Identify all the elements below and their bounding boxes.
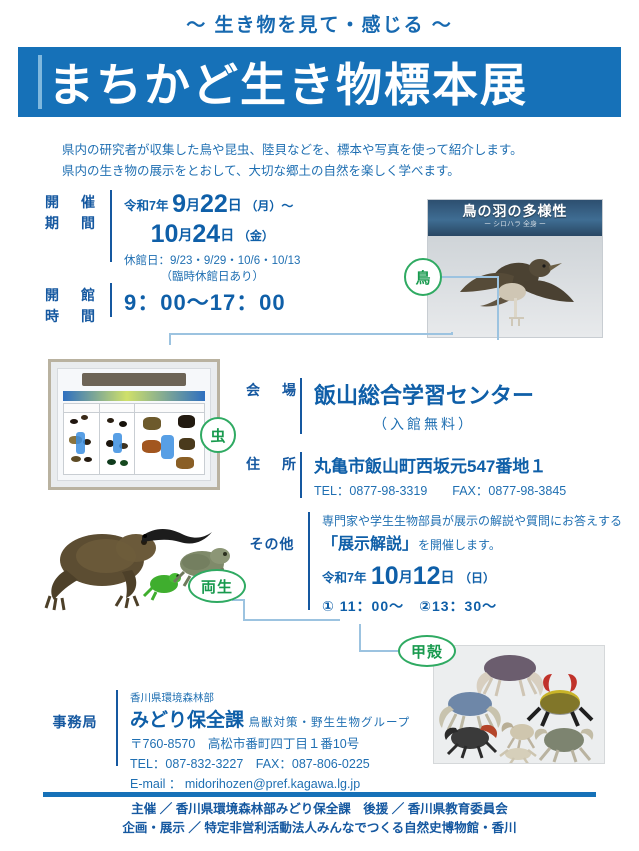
- period-start-day: 22: [200, 190, 228, 218]
- insect-column-1-header: [64, 404, 99, 413]
- other-era: 令和7年: [322, 571, 366, 585]
- other-highlight-line: 「展示解説」を開催します。: [322, 530, 622, 554]
- blue-marker: [76, 432, 85, 454]
- hours-label-line2: 時 間: [44, 306, 100, 327]
- insect-column-3: [135, 404, 204, 474]
- period-start: 令和7年 9月22日 （月）〜: [124, 190, 300, 219]
- other-highlight-tail: を開催します。: [418, 538, 501, 552]
- lead-description: 県内の研究者が収集した鳥や昆虫、陸貝などを、標本や写真を使って紹介します。 県内…: [62, 140, 582, 181]
- photo-insect-case: [48, 359, 220, 490]
- hours-divider: [110, 283, 112, 317]
- badge-crustacean: 甲殻: [398, 635, 456, 667]
- specimen-dot: [107, 418, 114, 423]
- period-start-month: 9: [172, 190, 186, 218]
- other-divider: [308, 512, 310, 610]
- period-end-dow: （金）: [238, 229, 274, 243]
- venue-value: 飯山総合学習センター （入館無料）: [314, 378, 534, 434]
- blue-marker: [113, 433, 122, 453]
- venue-admission: （入館無料）: [314, 414, 534, 434]
- period-start-dow: （月）〜: [245, 199, 293, 213]
- closed-note: （臨時休館日あり）: [124, 268, 300, 284]
- venue-divider: [300, 378, 302, 434]
- badge-amphibian: 両生: [188, 569, 246, 603]
- poster-root: 〜 生き物を見て・感じる 〜 まちかど生き物標本展 県内の研究者が収集した鳥や昆…: [0, 0, 639, 851]
- other-label: その他: [246, 512, 298, 554]
- info-row-other: その他 専門家や学生生物部員が展示の解説や質問にお答えする 「展示解説」を開催し…: [246, 512, 622, 610]
- specimen-dot: [107, 459, 116, 465]
- other-day-unit: 日: [441, 569, 455, 585]
- office-division: みどり保全課: [130, 710, 244, 731]
- period-era: 令和7年: [124, 199, 168, 213]
- specimen-dot: [70, 419, 78, 424]
- badge-amphibian-label: 両生: [201, 576, 233, 597]
- office-email: E-mail ： midorihozen@pref.kagawa.lg.jp: [130, 773, 410, 792]
- venue-label: 会 場: [246, 378, 290, 400]
- other-month: 10: [371, 562, 399, 590]
- other-session-times: ① 11：00〜 ②13：30〜: [322, 596, 622, 616]
- lead-line-2: 県内の生き物の展示をとおして、大切な郷土の自然を楽しく学べます。: [62, 161, 582, 182]
- butterfly-specimen: [143, 417, 161, 430]
- bird-caption-title: 鳥の羽の多様性: [463, 203, 568, 219]
- other-highlight: 「展示解説」: [322, 536, 418, 553]
- badge-crustacean-label: 甲殻: [411, 641, 443, 662]
- specimen-dot: [71, 456, 81, 462]
- address-street: 丸亀市飯山町西坂元547番地１: [314, 452, 566, 477]
- badge-bird: 鳥: [404, 258, 442, 296]
- office-tel-fax: TEL：087-832-3227 FAX：087-806-0225: [130, 753, 410, 772]
- info-row-hours: 開 館 時 間 9：00〜17：00: [44, 283, 286, 317]
- closed-days: 休館日：9/23・9/29・10/6・10/13: [124, 252, 300, 268]
- insect-case-columns: [63, 403, 205, 475]
- hours-value: 9：00〜17：00: [124, 283, 286, 317]
- photo-bird: 鳥の羽の多様性 ー シロハラ 全身 ー: [427, 199, 603, 338]
- office-division-line: みどり保全課 鳥獣対策・野生生物グループ: [130, 705, 410, 732]
- bird-photo-caption: 鳥の羽の多様性 ー シロハラ 全身 ー: [428, 200, 602, 236]
- specimen-dot: [120, 460, 128, 466]
- butterfly-specimen: [142, 440, 161, 453]
- period-label-line1: 開 催: [44, 192, 100, 213]
- butterfly-specimen: [178, 415, 195, 428]
- office-value: 香川県環境森林部 みどり保全課 鳥獣対策・野生生物グループ 〒760-8570 …: [130, 690, 410, 792]
- period-end-month: 10: [151, 220, 179, 248]
- address-divider: [300, 452, 302, 498]
- badge-bird-label: 鳥: [415, 267, 430, 288]
- info-row-address: 住 所 丸亀市飯山町西坂元547番地１ TEL：0877-98-3319 FAX…: [246, 452, 566, 498]
- info-row-venue: 会 場 飯山総合学習センター （入館無料）: [246, 378, 534, 434]
- butterfly-specimen: [179, 438, 195, 450]
- badge-insect-label: 虫: [210, 425, 225, 446]
- specimen-dot: [81, 415, 88, 420]
- badge-insect: 虫: [200, 417, 236, 453]
- period-end: 10月24日 （金）: [124, 220, 300, 249]
- footer-divider: [43, 792, 596, 797]
- office-label: 事務局: [44, 690, 106, 732]
- bird-caption-sub: ー シロハラ 全身 ー: [428, 219, 602, 229]
- period-end-month-unit: 月: [178, 227, 192, 243]
- period-value: 令和7年 9月22日 （月）〜 10月24日 （金） 休館日：9/23・9/29…: [124, 190, 300, 284]
- period-label: 開 催 期 間: [44, 190, 100, 234]
- insect-column-3-header: [135, 404, 204, 413]
- footer-line-1: 主催 ／ 香川県環境森林部みどり保全課 後援 ／ 香川県教育委員会: [0, 800, 639, 819]
- bird-photo-body: [428, 236, 602, 337]
- office-department: 香川県環境森林部: [130, 690, 410, 705]
- hours-label-line1: 開 館: [44, 285, 100, 306]
- other-dow: （日）: [459, 571, 495, 585]
- insect-column-1: [64, 404, 100, 474]
- title-band: まちかど生き物標本展: [18, 47, 621, 117]
- period-end-day-unit: 日: [220, 227, 234, 243]
- period-divider: [110, 190, 112, 262]
- other-month-unit: 月: [399, 569, 413, 585]
- bird-specimen-icon: [454, 246, 580, 332]
- venue-name: 飯山総合学習センター: [314, 378, 534, 410]
- period-month-unit: 月: [186, 197, 200, 213]
- office-postal: 〒760-8570 高松市番町四丁目１番10号: [130, 733, 410, 752]
- info-row-office: 事務局 香川県環境森林部 みどり保全課 鳥獣対策・野生生物グループ 〒760-8…: [44, 690, 410, 766]
- other-day: 12: [413, 562, 441, 590]
- insect-column-2: [100, 404, 136, 474]
- info-row-period: 開 催 期 間 令和7年 9月22日 （月）〜 10月24日 （金） 休館日：9…: [44, 190, 300, 262]
- footer-credits: 主催 ／ 香川県環境森林部みどり保全課 後援 ／ 香川県教育委員会 企画・展示 …: [0, 800, 639, 839]
- butterfly-specimen: [176, 457, 194, 469]
- other-date: 令和7年 10月12日 （日）: [322, 562, 622, 591]
- footer-line-2: 企画・展示 ／ 特定非営利活動法人みんなでつくる自然史博物館・香川: [0, 819, 639, 838]
- office-group: 鳥獣対策・野生生物グループ: [248, 717, 410, 729]
- insect-column-2-header: [100, 404, 135, 413]
- period-end-day: 24: [192, 220, 220, 248]
- specimen-dot: [119, 421, 127, 427]
- title-accent-bar: [38, 55, 42, 109]
- other-value: 専門家や学生生物部員が展示の解説や質問にお答えする 「展示解説」を開催します。 …: [322, 512, 622, 616]
- page-title: まちかど生き物標本展: [48, 49, 528, 115]
- page-tagline: 〜 生き物を見て・感じる 〜: [0, 10, 639, 37]
- address-tel-fax: TEL：0877-98-3319 FAX：0877-98-3845: [314, 480, 566, 499]
- crab-specimens-icon: [434, 646, 605, 764]
- address-label: 住 所: [246, 452, 290, 474]
- photo-crabs: [433, 645, 605, 764]
- period-label-line2: 期 間: [44, 213, 100, 234]
- insect-case-band: [63, 391, 205, 401]
- period-day-unit: 日: [228, 197, 242, 213]
- hours-label: 開 館 時 間: [44, 283, 100, 327]
- insect-case-inner: [57, 368, 211, 481]
- office-divider: [116, 690, 118, 766]
- address-value: 丸亀市飯山町西坂元547番地１ TEL：0877-98-3319 FAX：087…: [314, 452, 566, 499]
- blue-marker: [161, 435, 174, 459]
- insect-case-title-plate: [82, 373, 185, 386]
- other-description: 専門家や学生生物部員が展示の解説や質問にお答えする: [322, 512, 622, 529]
- lead-line-1: 県内の研究者が収集した鳥や昆虫、陸貝などを、標本や写真を使って紹介します。: [62, 140, 582, 161]
- specimen-dot: [84, 457, 92, 462]
